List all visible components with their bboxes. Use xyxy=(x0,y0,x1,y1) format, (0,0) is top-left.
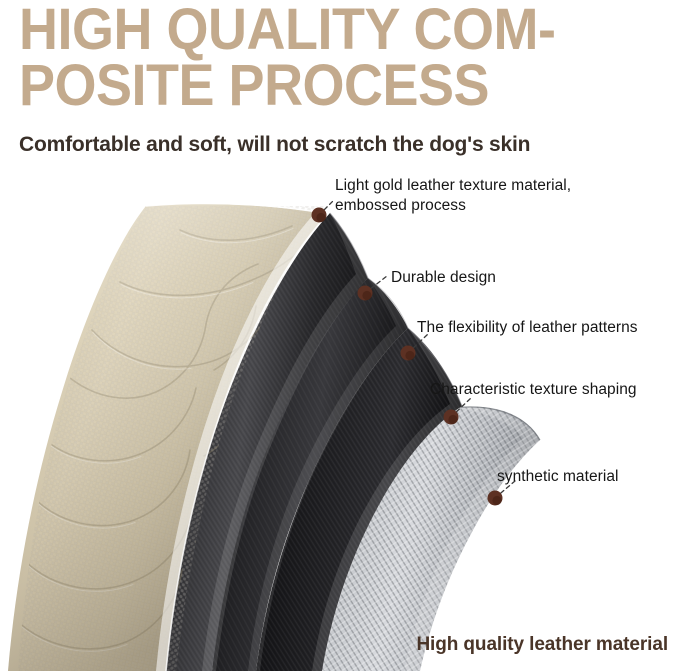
callout-label-light-gold-leather: Light gold leather texture material, emb… xyxy=(335,176,571,216)
callout-label-durable-design: Durable design xyxy=(391,268,496,288)
footer-note: High quality leather material xyxy=(416,634,668,656)
page-subtitle: Comfortable and soft, will not scratch t… xyxy=(19,132,530,157)
page-title: HIGH QUALITY COM- POSITE PROCESS xyxy=(19,2,624,114)
callout-label-leather-flexibility: The flexibility of leather patterns xyxy=(417,318,638,338)
callout-label-synthetic-material: synthetic material xyxy=(497,467,619,487)
callout-label-texture-shaping: Characteristic texture shaping xyxy=(430,380,637,400)
product-feature-infographic: HIGH QUALITY COM- POSITE PROCESS Comfort… xyxy=(0,0,679,671)
material-layers-illustration xyxy=(0,170,679,671)
